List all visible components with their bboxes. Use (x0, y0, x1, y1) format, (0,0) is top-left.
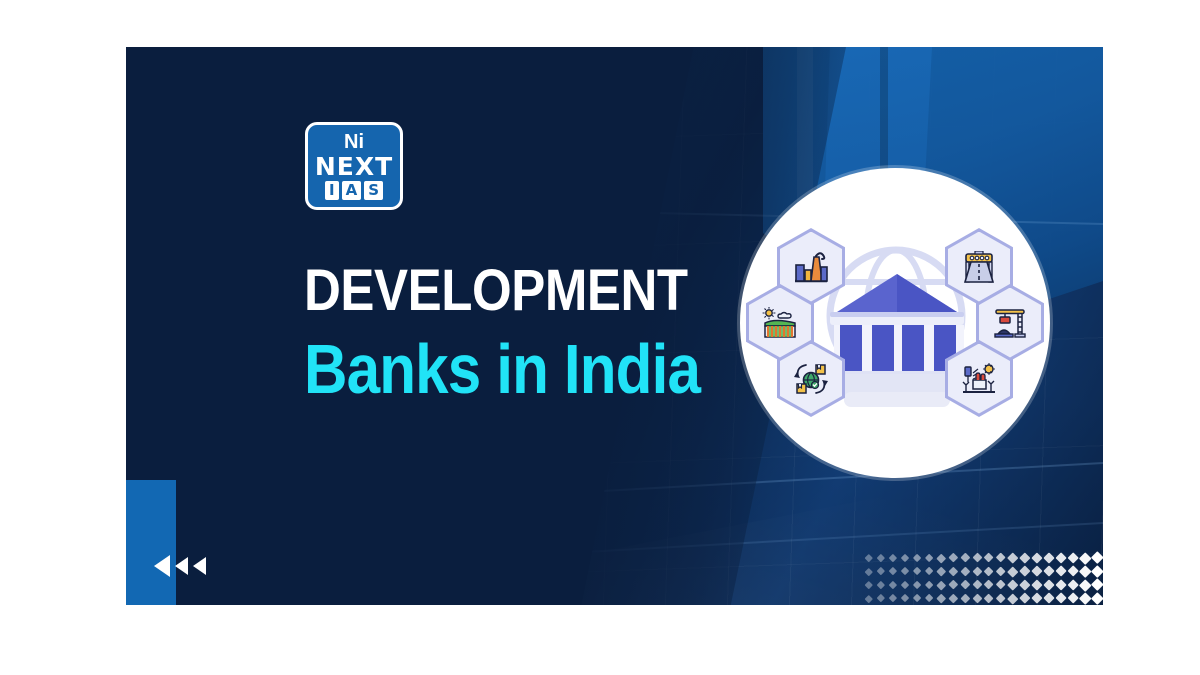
dot (1008, 552, 1019, 563)
dot (996, 580, 1006, 590)
dot (1055, 565, 1067, 577)
dot (1020, 579, 1031, 590)
dot (1079, 579, 1091, 591)
dot (1043, 552, 1054, 563)
dot (948, 580, 957, 589)
dot (972, 566, 982, 576)
power-energy-plant-icon (961, 363, 997, 395)
dot (972, 553, 982, 563)
dot (925, 553, 934, 562)
brand-logo-ias-a: A (342, 181, 362, 200)
illustration-group (740, 168, 1050, 478)
bank-foot (844, 392, 950, 407)
dot (1091, 565, 1103, 577)
dot (1008, 579, 1019, 590)
brand-logo-next: NEXT (315, 154, 393, 179)
dot (865, 567, 873, 575)
brand-logo-ias: I A S (325, 181, 383, 200)
dot (913, 567, 922, 576)
brand-logo-ias-i: I (325, 181, 339, 200)
dot (913, 580, 922, 589)
dot (1020, 593, 1031, 604)
brand-logo-ias-s: S (364, 181, 383, 200)
dot (1043, 593, 1054, 604)
dot (901, 594, 909, 602)
dot (1043, 579, 1054, 590)
dot (1055, 579, 1067, 591)
dot (925, 580, 934, 589)
dot (1067, 552, 1079, 564)
dot (960, 593, 970, 603)
construction-crane-icon (992, 307, 1028, 339)
dot (984, 580, 994, 590)
dot (1031, 579, 1042, 590)
global-supply-chain-icon (793, 362, 829, 396)
dot (877, 581, 885, 589)
agriculture-field-icon (762, 307, 798, 339)
triple-left-arrow-icon (154, 555, 206, 577)
dot-grid-decoration (863, 551, 1103, 605)
dot (1079, 552, 1091, 564)
brand-logo[interactable]: Ni NEXT I A S (305, 122, 403, 210)
dot (1055, 552, 1067, 564)
dot (1031, 593, 1042, 604)
dot (936, 580, 945, 589)
dot (1008, 593, 1019, 604)
left-arrow-icon-3 (193, 557, 206, 575)
dot (1055, 592, 1067, 604)
dot (1091, 579, 1103, 591)
dot (984, 553, 994, 563)
dot (1031, 552, 1042, 563)
page-title-secondary: Banks in India (304, 334, 751, 404)
dot (948, 567, 957, 576)
dot (960, 580, 970, 590)
page-title-primary: DEVELOPMENT (304, 262, 762, 320)
hex-inner (948, 344, 1010, 414)
highway-toll-road-icon (961, 251, 997, 283)
slide-canvas: Ni NEXT I A S DEVELOPMENT Banks in India (0, 0, 1200, 675)
dot (901, 567, 909, 575)
dot (1067, 579, 1079, 591)
dot (925, 567, 934, 576)
dot (1043, 566, 1054, 577)
factory-industry-icon (793, 251, 829, 283)
dot (960, 566, 970, 576)
illustration-circle (740, 168, 1050, 478)
dot (889, 581, 897, 589)
left-arrow-icon-1 (154, 555, 170, 577)
dot (948, 594, 957, 603)
dot (936, 594, 945, 603)
dot (948, 553, 957, 562)
dot (1079, 592, 1091, 604)
dot (1020, 566, 1031, 577)
dot (1020, 552, 1031, 563)
brand-logo-ni: Ni (344, 132, 364, 152)
dot (972, 580, 982, 590)
dot (1091, 552, 1103, 564)
dot (913, 553, 922, 562)
dot (901, 554, 909, 562)
dot (889, 567, 897, 575)
accent-blue-block (126, 480, 176, 605)
dot (865, 594, 873, 602)
banner-card: Ni NEXT I A S DEVELOPMENT Banks in India (126, 47, 1103, 605)
dot (984, 593, 994, 603)
dot (996, 566, 1006, 576)
dot (877, 594, 885, 602)
dot (996, 553, 1006, 563)
dot (901, 581, 909, 589)
dot (889, 594, 897, 602)
dot (1067, 592, 1079, 604)
dot (865, 554, 873, 562)
dot (936, 553, 945, 562)
dot (1091, 592, 1103, 604)
dot (1031, 566, 1042, 577)
left-arrow-icon-2 (175, 557, 188, 575)
dot (865, 581, 873, 589)
dot (1067, 565, 1079, 577)
dot (1008, 566, 1019, 577)
dot (936, 567, 945, 576)
dot (913, 594, 922, 603)
dot (996, 593, 1006, 603)
dot (877, 567, 885, 575)
hex-inner (780, 344, 842, 414)
dot (877, 554, 885, 562)
dot (925, 594, 934, 603)
dot (984, 566, 994, 576)
dot (972, 593, 982, 603)
dot (960, 553, 970, 563)
dot (1079, 565, 1091, 577)
dot (889, 554, 897, 562)
